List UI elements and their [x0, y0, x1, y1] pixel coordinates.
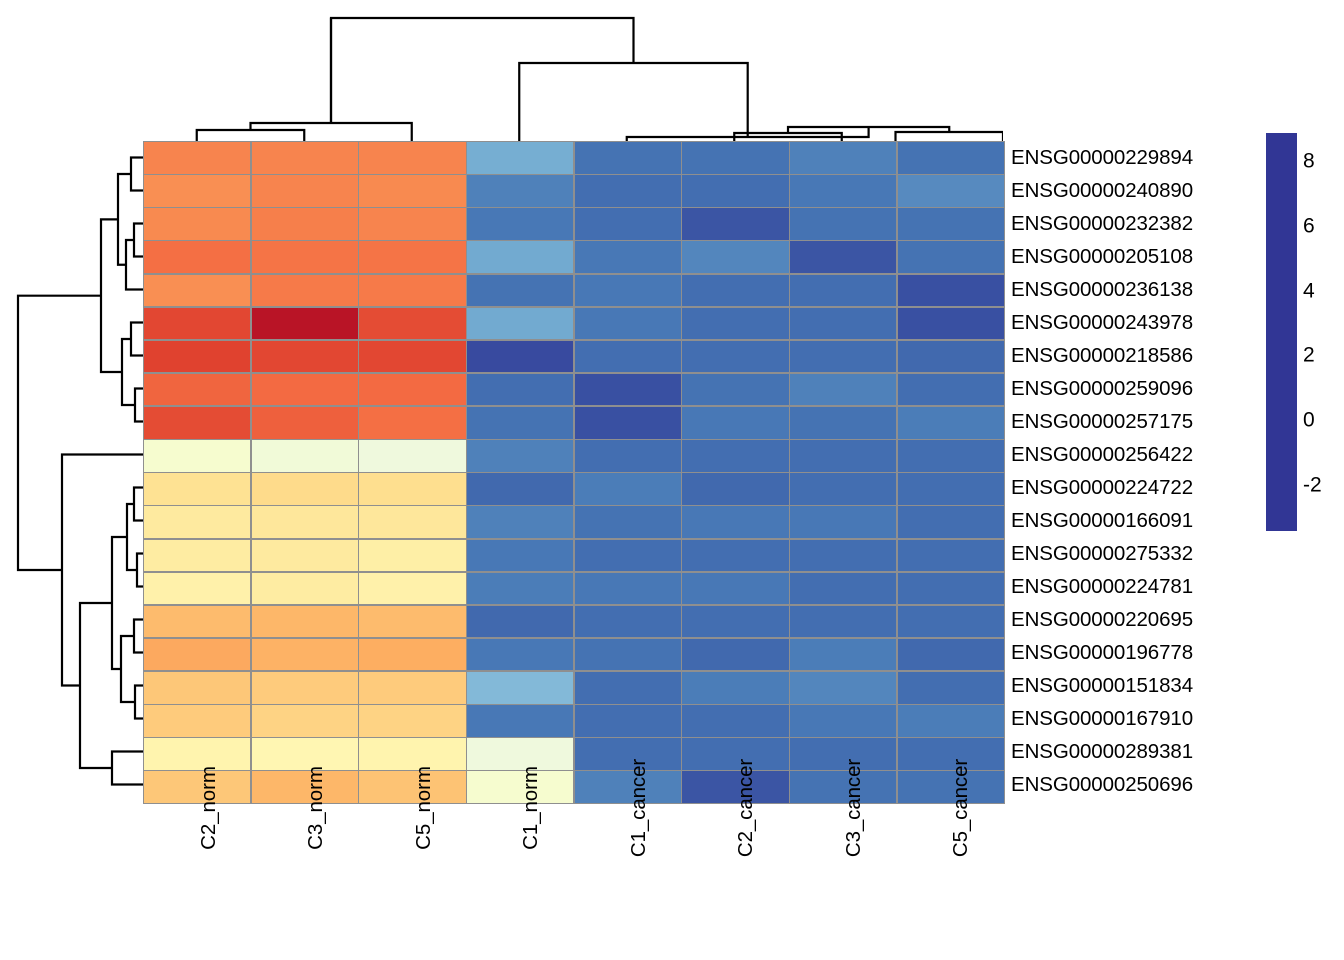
heatmap-cell: [575, 341, 681, 373]
colorbar-gradient: [1265, 132, 1298, 532]
heatmap-cell: [252, 738, 358, 770]
heatmap-cell: [144, 374, 250, 406]
heatmap-cell: [144, 473, 250, 505]
row-label: ENSG00000232382: [1011, 207, 1261, 240]
colorbar-tick-label: 0: [1303, 409, 1315, 430]
heatmap-cell: [467, 672, 573, 704]
heatmap-cell: [252, 440, 358, 472]
colorbar-tick-label: 6: [1303, 215, 1315, 236]
heatmap-cell: [682, 407, 788, 439]
heatmap-cell: [359, 639, 465, 671]
heatmap-cell: [252, 639, 358, 671]
heatmap-cell: [252, 241, 358, 273]
row-labels: ENSG00000229894ENSG00000240890ENSG000002…: [1011, 141, 1261, 802]
heatmap-cell: [144, 308, 250, 340]
column-label: C5_cancer: [949, 759, 973, 857]
heatmap-cell: [467, 208, 573, 240]
column-label: C5_norm: [412, 766, 436, 850]
heatmap-cell: [682, 308, 788, 340]
heatmap-cell: [575, 308, 681, 340]
column-label-slot: C2_norm: [143, 806, 251, 956]
heatmap-cell: [144, 506, 250, 538]
heatmap-cell: [359, 308, 465, 340]
heatmap-cell: [790, 208, 896, 240]
colorbar-tick-label: 2: [1303, 345, 1315, 366]
heatmap-cell: [359, 407, 465, 439]
heatmap-cell: [898, 407, 1004, 439]
heatmap-cell: [682, 705, 788, 737]
heatmap-cell: [682, 506, 788, 538]
heatmap-cell: [575, 374, 681, 406]
row-label: ENSG00000166091: [1011, 505, 1261, 538]
heatmap-cell: [359, 738, 465, 770]
column-label-slot: C3_norm: [251, 806, 359, 956]
column-label: C1_norm: [519, 766, 543, 850]
heatmap-cell: [575, 440, 681, 472]
heatmap-cell: [467, 606, 573, 638]
heatmap-cell: [790, 407, 896, 439]
heatmap-cell: [575, 241, 681, 273]
heatmap-cell: [682, 175, 788, 207]
heatmap-cell: [144, 241, 250, 273]
heatmap-cell: [144, 208, 250, 240]
heatmap-cell: [252, 208, 358, 240]
heatmap-cell: [790, 175, 896, 207]
heatmap-cell: [359, 175, 465, 207]
heatmap-cell: [682, 672, 788, 704]
row-label: ENSG00000224781: [1011, 571, 1261, 604]
heatmap-cell: [252, 374, 358, 406]
row-label: ENSG00000205108: [1011, 240, 1261, 273]
heatmap-cell: [252, 308, 358, 340]
heatmap-cell: [790, 506, 896, 538]
row-label: ENSG00000250696: [1011, 769, 1261, 802]
heatmap-cell: [467, 275, 573, 307]
heatmap-cell: [682, 639, 788, 671]
heatmap-cell: [359, 473, 465, 505]
heatmap-cell: [359, 341, 465, 373]
heatmap-cell: [252, 175, 358, 207]
row-dendrogram: [8, 141, 143, 802]
heatmap-cell: [898, 639, 1004, 671]
heatmap-cell: [467, 374, 573, 406]
heatmap-cell: [898, 208, 1004, 240]
heatmap-cell: [252, 606, 358, 638]
heatmap-cell: [682, 208, 788, 240]
heatmap-cell: [252, 506, 358, 538]
heatmap-cell: [790, 540, 896, 572]
heatmap-cell: [359, 506, 465, 538]
heatmap-cell: [898, 540, 1004, 572]
heatmap-cell: [144, 738, 250, 770]
heatmap-cell: [144, 341, 250, 373]
heatmap-cell: [144, 275, 250, 307]
heatmap-cell: [790, 672, 896, 704]
heatmap-cell: [898, 275, 1004, 307]
heatmap-cell: [898, 374, 1004, 406]
heatmap-cell: [359, 440, 465, 472]
heatmap-cell: [790, 639, 896, 671]
heatmap-cell: [252, 275, 358, 307]
heatmap-cell: [359, 241, 465, 273]
heatmap-cell: [575, 175, 681, 207]
heatmap-cell: [682, 241, 788, 273]
heatmap-cell: [359, 705, 465, 737]
heatmap-cell: [790, 275, 896, 307]
heatmap-cell: [575, 606, 681, 638]
column-label-slot: C5_cancer: [896, 806, 1004, 956]
heatmap-cell: [898, 705, 1004, 737]
heatmap-cell: [467, 573, 573, 605]
heatmap-cell: [467, 705, 573, 737]
heatmap-cell: [144, 672, 250, 704]
heatmap-cell: [682, 440, 788, 472]
clustermap-figure: ENSG00000229894ENSG00000240890ENSG000002…: [0, 0, 1344, 960]
heatmap-cell: [898, 672, 1004, 704]
colorbar-tick-label: 8: [1303, 151, 1315, 172]
heatmap-cell: [467, 175, 573, 207]
heatmap-cell: [575, 540, 681, 572]
heatmap-cell: [467, 506, 573, 538]
heatmap-cell: [467, 440, 573, 472]
heatmap-cell: [252, 672, 358, 704]
column-label-slot: C3_cancer: [788, 806, 896, 956]
heatmap-cell: [359, 208, 465, 240]
row-label: ENSG00000289381: [1011, 736, 1261, 769]
heatmap-cell: [144, 407, 250, 439]
heatmap-cell: [575, 208, 681, 240]
heatmap-cell: [359, 672, 465, 704]
heatmap-cell: [898, 440, 1004, 472]
heatmap-cell: [252, 705, 358, 737]
heatmap-cell: [575, 506, 681, 538]
heatmap-cell: [252, 540, 358, 572]
heatmap-cell: [359, 374, 465, 406]
heatmap-cell: [790, 374, 896, 406]
column-label: C2_cancer: [734, 759, 758, 857]
column-label: C3_norm: [304, 766, 328, 850]
heatmap-cell: [144, 606, 250, 638]
heatmap-cell: [682, 473, 788, 505]
row-label: ENSG00000240890: [1011, 174, 1261, 207]
colorbar-tick-label: 4: [1303, 280, 1315, 301]
heatmap-cell: [575, 407, 681, 439]
heatmap-cell: [467, 308, 573, 340]
heatmap-cell: [359, 540, 465, 572]
column-label-slot: C5_norm: [358, 806, 466, 956]
heatmap-cell: [682, 540, 788, 572]
heatmap-cell: [359, 142, 465, 174]
row-label: ENSG00000196778: [1011, 637, 1261, 670]
heatmap-cell: [898, 573, 1004, 605]
heatmap-cell: [790, 705, 896, 737]
heatmap-cell: [575, 705, 681, 737]
heatmap-cell: [575, 142, 681, 174]
heatmap-cell: [144, 573, 250, 605]
heatmap-cell: [467, 142, 573, 174]
heatmap-cell: [790, 606, 896, 638]
heatmap-cell: [898, 175, 1004, 207]
heatmap-cell: [790, 440, 896, 472]
heatmap-cell: [898, 473, 1004, 505]
heatmap-cell: [252, 341, 358, 373]
heatmap-cell: [144, 142, 250, 174]
column-label-slot: C1_cancer: [573, 806, 681, 956]
row-label: ENSG00000224722: [1011, 471, 1261, 504]
heatmap-cell: [575, 573, 681, 605]
heatmap-cell: [575, 275, 681, 307]
column-labels: C2_normC3_normC5_normC1_normC1_cancerC2_…: [143, 806, 1003, 956]
heatmap-cell: [682, 275, 788, 307]
column-label: C3_cancer: [842, 759, 866, 857]
heatmap-cell: [144, 540, 250, 572]
row-label: ENSG00000218586: [1011, 339, 1261, 372]
heatmap-cell: [252, 573, 358, 605]
heatmap-cell: [144, 705, 250, 737]
heatmap-cell: [252, 142, 358, 174]
heatmap-cell: [467, 407, 573, 439]
heatmap-cell: [467, 540, 573, 572]
row-label: ENSG00000259096: [1011, 372, 1261, 405]
row-label: ENSG00000220695: [1011, 604, 1261, 637]
heatmap-cell: [682, 573, 788, 605]
heatmap-cell: [898, 606, 1004, 638]
heatmap-cell: [682, 341, 788, 373]
heatmap-cell: [790, 341, 896, 373]
heatmap-cell: [790, 308, 896, 340]
heatmap-cell: [682, 606, 788, 638]
row-label: ENSG00000257175: [1011, 405, 1261, 438]
column-label: C1_cancer: [627, 759, 651, 857]
heatmap-cell: [467, 473, 573, 505]
heatmap-cell: [790, 142, 896, 174]
row-label: ENSG00000167910: [1011, 703, 1261, 736]
row-label: ENSG00000275332: [1011, 538, 1261, 571]
row-label: ENSG00000243978: [1011, 306, 1261, 339]
heatmap-cell: [144, 175, 250, 207]
heatmap-cell: [682, 142, 788, 174]
row-label: ENSG00000256422: [1011, 438, 1261, 471]
row-label: ENSG00000151834: [1011, 670, 1261, 703]
heatmap-cell: [682, 374, 788, 406]
heatmap-grid: [143, 141, 1005, 804]
heatmap-cell: [467, 738, 573, 770]
heatmap-cell: [790, 573, 896, 605]
row-label: ENSG00000229894: [1011, 141, 1261, 174]
heatmap-cell: [575, 639, 681, 671]
heatmap-cell: [790, 473, 896, 505]
colorbar-tick-label: -2: [1303, 474, 1322, 495]
heatmap-cell: [467, 341, 573, 373]
heatmap-cell: [898, 506, 1004, 538]
heatmap-cell: [898, 142, 1004, 174]
colorbar: 86420-2: [1265, 132, 1344, 532]
column-label-slot: C2_cancer: [681, 806, 789, 956]
heatmap-cell: [144, 440, 250, 472]
heatmap-cell: [898, 341, 1004, 373]
row-label: ENSG00000236138: [1011, 273, 1261, 306]
column-dendrogram: [143, 6, 1003, 141]
heatmap-cell: [252, 473, 358, 505]
column-label-slot: C1_norm: [466, 806, 574, 956]
heatmap-cell: [359, 573, 465, 605]
heatmap-cell: [252, 407, 358, 439]
heatmap-cell: [898, 241, 1004, 273]
heatmap-cell: [575, 473, 681, 505]
heatmap-cell: [898, 308, 1004, 340]
heatmap-cell: [359, 606, 465, 638]
column-label: C2_norm: [197, 766, 221, 850]
heatmap-cell: [790, 241, 896, 273]
heatmap-cell: [359, 275, 465, 307]
heatmap-cell: [575, 672, 681, 704]
heatmap-cell: [144, 639, 250, 671]
heatmap-cell: [467, 241, 573, 273]
heatmap-cell: [467, 639, 573, 671]
